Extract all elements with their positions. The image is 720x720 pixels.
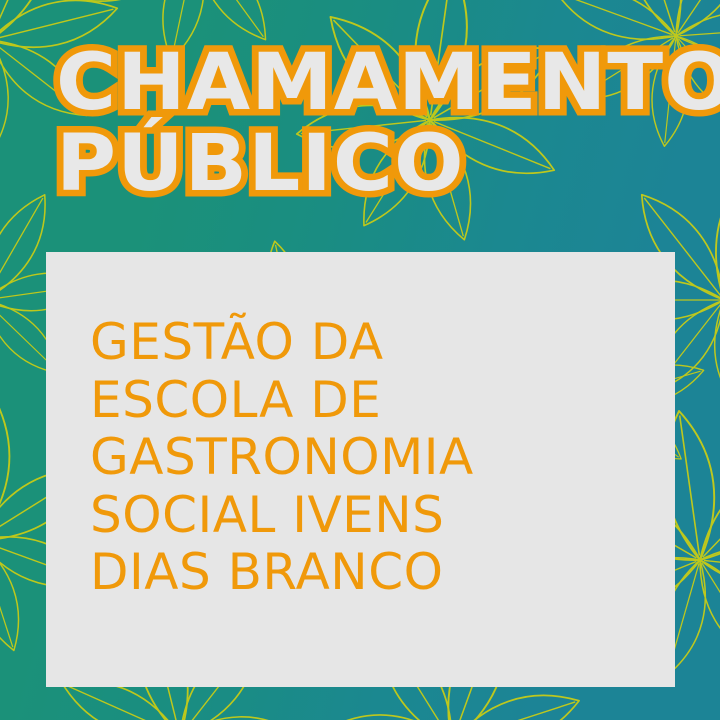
- poster-canvas: CHAMAMENTO PÚBLICO GESTÃO DA ESCOLA DE G…: [0, 0, 720, 720]
- body-line-1: GESTÃO DA: [90, 314, 650, 372]
- body-line-3: GASTRONOMIA: [90, 429, 650, 487]
- headline-line-2: PÚBLICO: [56, 127, 720, 202]
- body-line-4: SOCIAL IVENS: [90, 487, 650, 545]
- headline-line-1: CHAMAMENTO: [56, 46, 720, 121]
- headline-block: CHAMAMENTO PÚBLICO: [56, 46, 696, 202]
- body-line-5: DIAS BRANCO: [90, 544, 650, 602]
- body-line-2: ESCOLA DE: [90, 372, 650, 430]
- body-text-block: GESTÃO DA ESCOLA DE GASTRONOMIA SOCIAL I…: [90, 314, 650, 602]
- content-panel: GESTÃO DA ESCOLA DE GASTRONOMIA SOCIAL I…: [46, 252, 675, 687]
